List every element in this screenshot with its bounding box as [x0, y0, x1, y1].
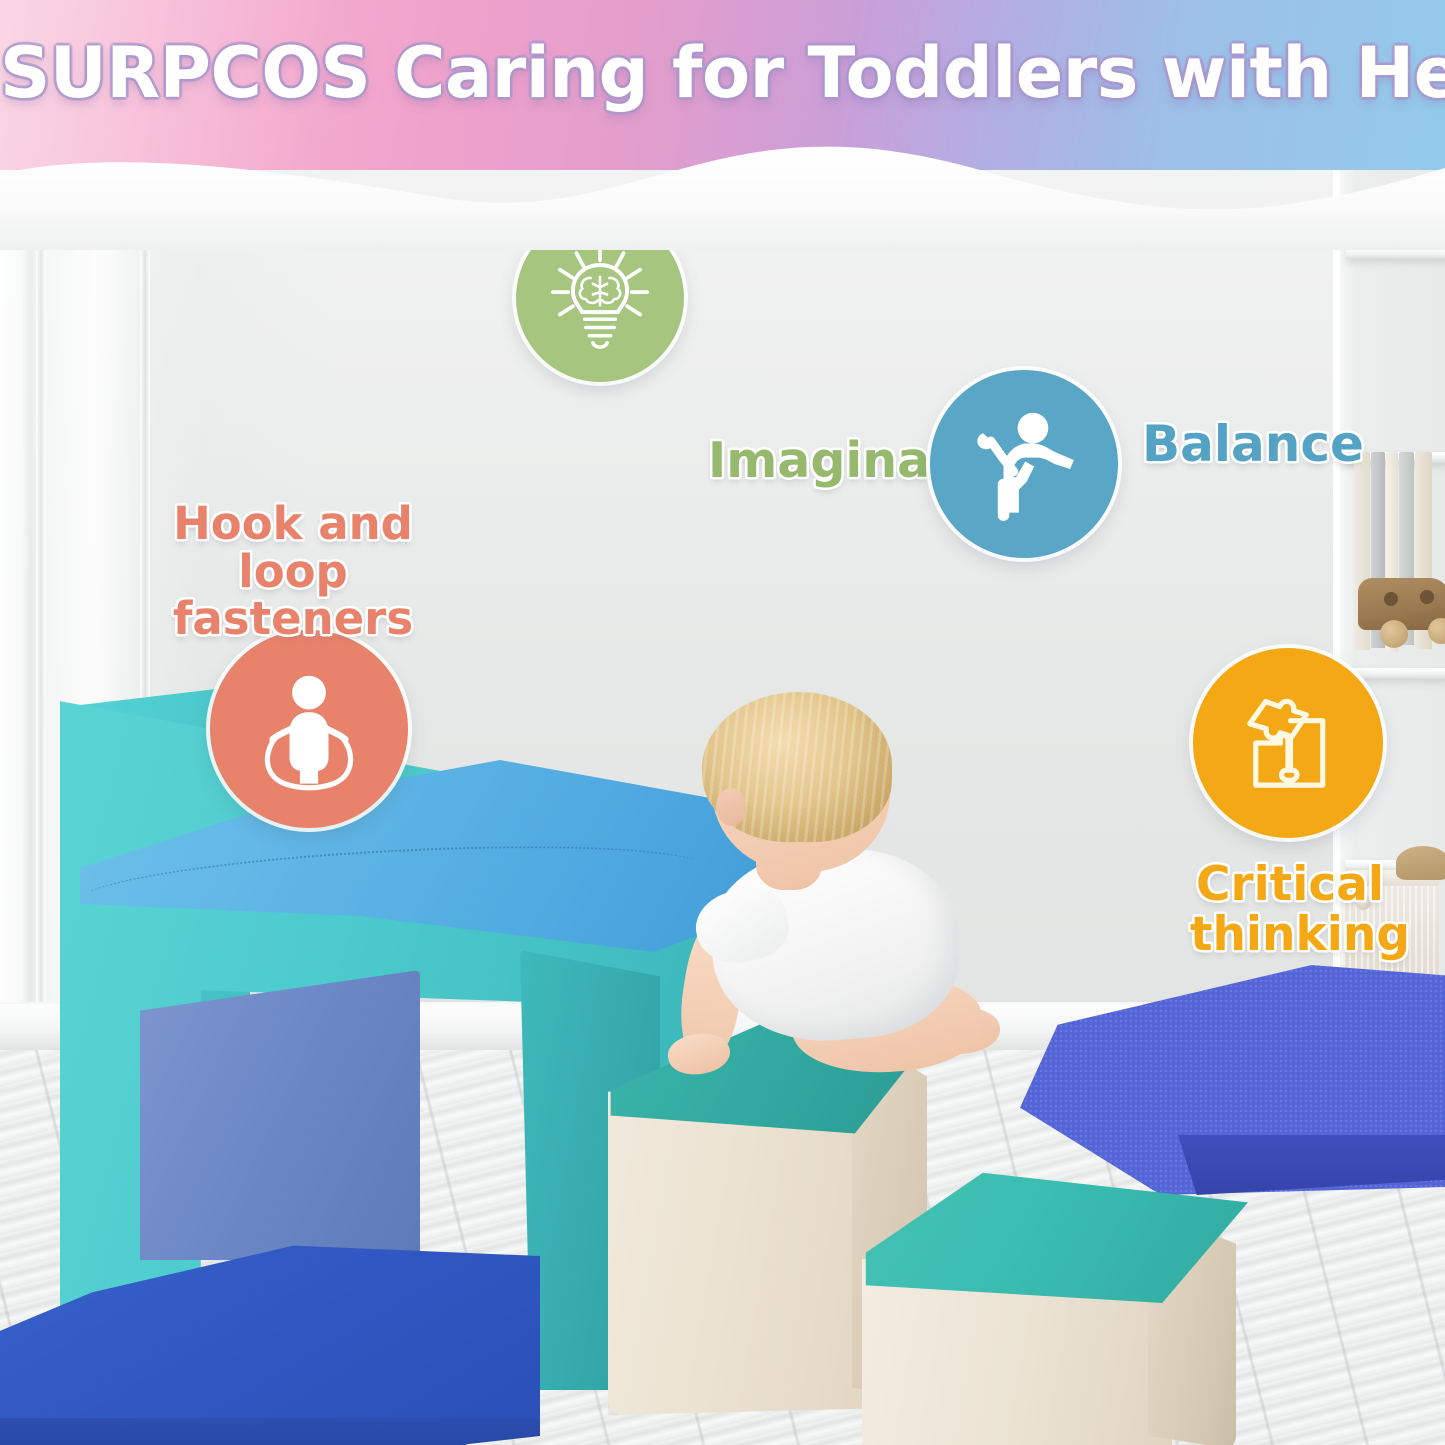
product-photo-scene: Imagination Hook and loop fasteners	[0, 170, 1445, 1445]
wavy-divider	[0, 120, 1445, 250]
badge-balance[interactable]	[930, 370, 1118, 558]
badge-critical-thinking[interactable]	[1193, 648, 1383, 838]
child-ear	[716, 788, 746, 826]
lightbulb-brain-icon	[541, 239, 659, 357]
jump-rope-figure-icon	[244, 664, 374, 794]
wall-panel-edge	[36, 170, 46, 1050]
toddler-child	[660, 690, 1020, 1090]
badge-label-balance: Balance	[1142, 418, 1364, 471]
badge-label-hook-and-loop-fasteners: Hook and loop fasteners	[128, 500, 458, 643]
page-title: SURPCOS Caring for Toddlers with Heart	[0, 38, 1445, 108]
badge-hook-and-loop-fasteners[interactable]	[210, 630, 408, 828]
basket-contents	[1396, 846, 1445, 880]
yoga-balance-figure-icon	[960, 400, 1088, 528]
tall-step-block-front-face	[608, 1085, 878, 1415]
marketing-image: Imagination Hook and loop fasteners	[0, 0, 1445, 1445]
badge-label-critical-thinking: Critical thinking	[1190, 860, 1390, 960]
arch-tunnel-inner-wall	[140, 970, 420, 1260]
wooden-toy-car-icon	[1358, 560, 1445, 668]
puzzle-pieces-icon	[1226, 681, 1350, 805]
blue-corner-mat-edge	[0, 1418, 540, 1445]
shelf-board	[1346, 668, 1445, 679]
